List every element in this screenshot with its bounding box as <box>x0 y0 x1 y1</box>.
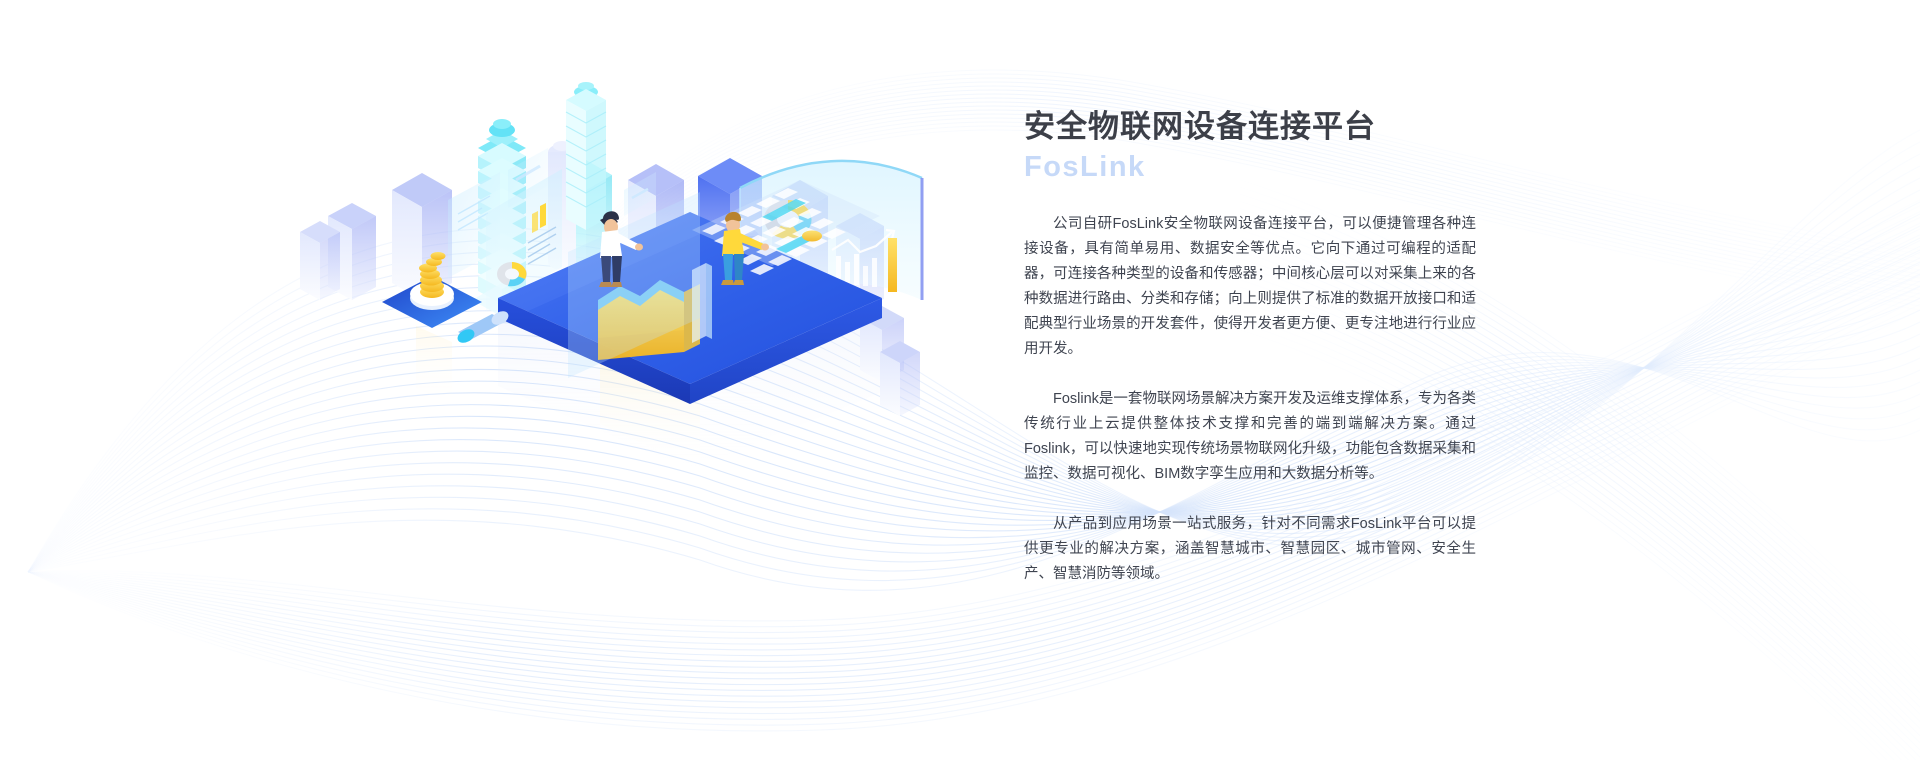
bar-chart <box>532 203 546 233</box>
building <box>698 158 762 290</box>
building <box>880 341 920 416</box>
cylinder-tower <box>548 141 576 270</box>
page-root: 安全物联网设备连接平台 FosLink 公司自研FosLink安全物联网设备连接… <box>0 0 1920 760</box>
skyline-buildings <box>300 82 904 382</box>
background-wave-lines <box>0 0 1920 760</box>
paragraph-1: 公司自研FosLink安全物联网设备连接平台，可以便捷管理各种连接设备，具有简单… <box>1024 212 1476 362</box>
building <box>860 306 904 382</box>
glass-panel <box>568 192 700 378</box>
building <box>772 180 828 300</box>
line-chart <box>832 230 894 252</box>
platform-slab <box>498 212 882 404</box>
building <box>328 203 376 300</box>
floating-report-card <box>448 172 500 278</box>
building <box>560 160 612 276</box>
cylinder-tower <box>733 226 759 319</box>
body-paragraphs: 公司自研FosLink安全物联网设备连接平台，可以便捷管理各种连接设备，具有简单… <box>1024 212 1476 587</box>
floating-blank-card <box>508 148 548 208</box>
coin-stack <box>382 252 482 328</box>
donut-chart <box>497 262 527 286</box>
building <box>628 164 684 288</box>
building <box>392 173 452 300</box>
hero-text-column: 安全物联网设备连接平台 FosLink <box>1024 108 1484 186</box>
donut-chart <box>764 200 812 239</box>
hero-illustration <box>0 0 1920 760</box>
stepped-tower <box>472 119 532 317</box>
connector-tube <box>455 308 511 345</box>
floating-chart-card <box>486 169 562 311</box>
area-chart <box>598 263 712 360</box>
building <box>300 221 340 300</box>
keypad-grid <box>692 180 880 275</box>
page-title: 安全物联网设备连接平台 <box>1024 108 1484 147</box>
stepped-tower <box>566 82 606 230</box>
bar-chart <box>836 238 897 292</box>
person-yellow-shirt <box>721 212 769 285</box>
product-name-subtitle: FosLink <box>1024 149 1484 187</box>
person-white-shirt <box>599 211 643 287</box>
paragraph-3: 从产品到应用场景一站式服务，针对不同需求FosLink平台可以提供更专业的解决方… <box>1024 512 1476 587</box>
paragraph-2: Foslink是一套物联网场景解决方案开发及运维支撑体系，专为各类传统行业上云提… <box>1024 387 1476 487</box>
building <box>836 213 884 312</box>
floating-tag-card <box>624 172 656 216</box>
platform-reflection <box>416 300 882 470</box>
curved-dashboard-screen <box>740 161 922 310</box>
skyline-buildings-foreground <box>880 341 920 416</box>
